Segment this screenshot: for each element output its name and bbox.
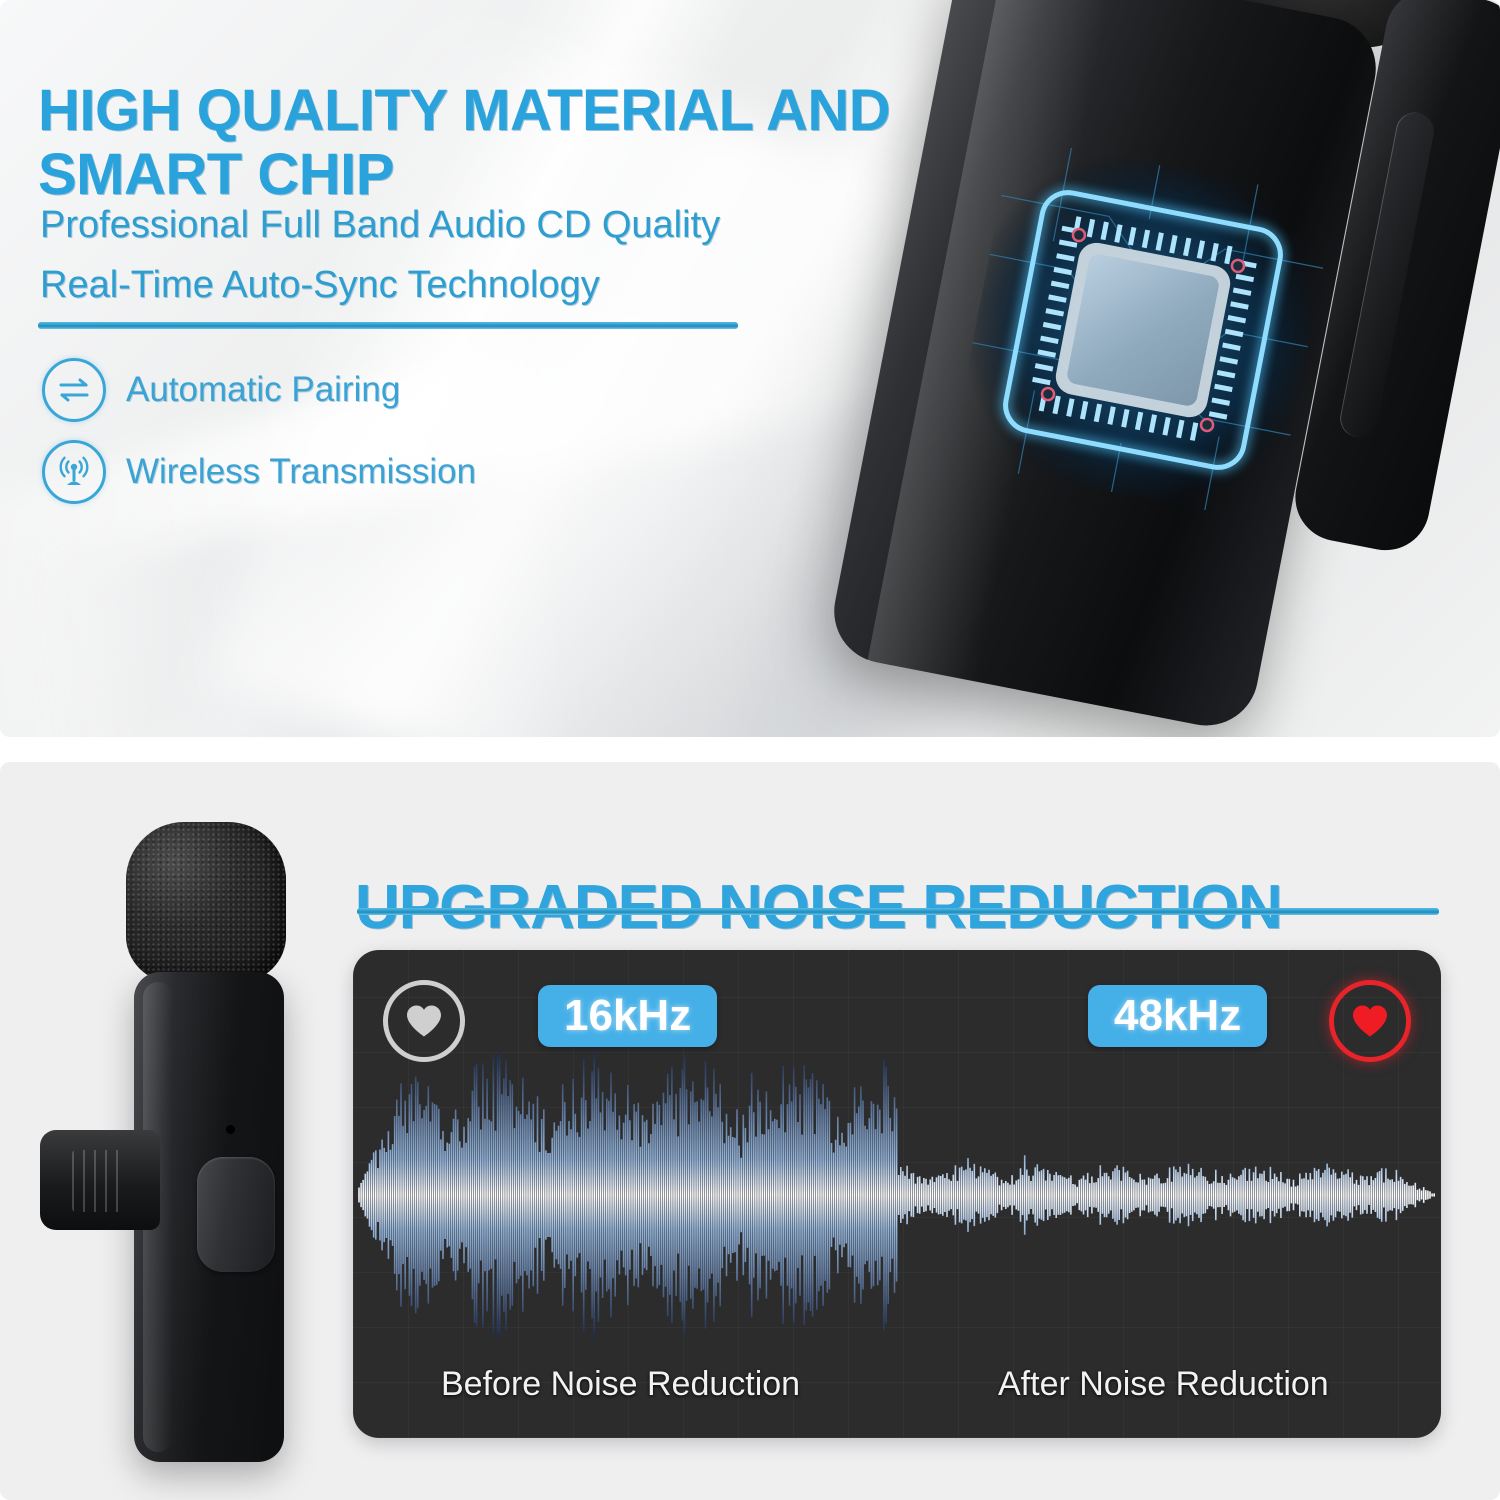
frequency-badge-after: 48kHz: [1088, 985, 1267, 1047]
subtitle-line-2: Real-Time Auto-Sync Technology: [40, 266, 940, 304]
top-feature-panel: HIGH QUALITY MATERIAL AND SMART CHIP Pro…: [0, 0, 1500, 737]
frequency-badge-before: 16kHz: [538, 985, 717, 1047]
feature-label: Automatic Pairing: [126, 370, 400, 410]
mic-clip-ridge: [1337, 109, 1437, 440]
mic-pinhole: [226, 1125, 235, 1134]
mic-foam-windscreen: [1218, 0, 1443, 58]
feature-item-automatic-pairing: Automatic Pairing: [42, 358, 400, 422]
mic-clip: [1288, 0, 1500, 558]
feature-label: Wireless Transmission: [126, 452, 476, 492]
mic-power-button: [197, 1157, 275, 1272]
smart-chip-graphic-icon: [950, 137, 1337, 524]
subtitle-line-1: Professional Full Band Audio CD Quality: [40, 206, 940, 244]
page-title: HIGH QUALITY MATERIAL AND SMART CHIP: [38, 79, 938, 208]
waveform-caption-after: After Noise Reduction: [998, 1365, 1329, 1404]
waveform-caption-before: Before Noise Reduction: [441, 1365, 800, 1404]
waveform-comparison-chart: 16kHz 48kHz Before Noise Reduction After…: [353, 950, 1441, 1438]
mic-clip-grip-lines: [72, 1150, 124, 1212]
mic-foam-windscreen: [126, 822, 286, 982]
product-infographic: HIGH QUALITY MATERIAL AND SMART CHIP Pro…: [0, 0, 1500, 1500]
feature-item-wireless-transmission: Wireless Transmission: [42, 440, 476, 504]
section-title-underline-divider: [357, 908, 1439, 915]
title-underline-divider: [38, 322, 738, 329]
background-swoosh-decoration: [38, 378, 1083, 737]
audio-waveform-graphic: [353, 1040, 1441, 1350]
pairing-arrows-icon: [42, 358, 106, 422]
product-photo-microphone: [30, 812, 350, 1472]
wireless-broadcast-icon: [42, 440, 106, 504]
